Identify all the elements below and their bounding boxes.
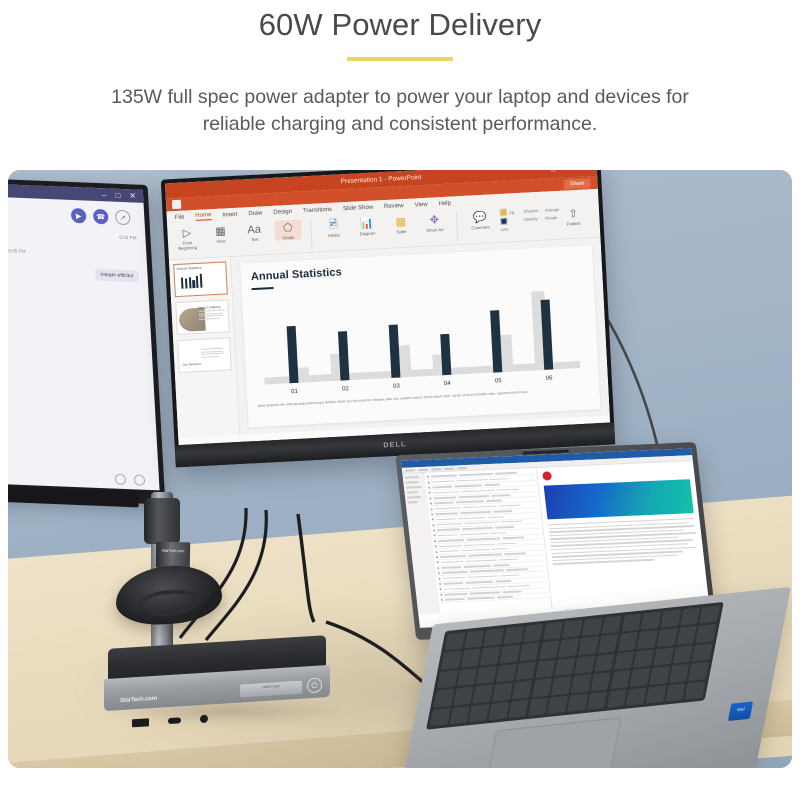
trackpad[interactable] bbox=[484, 717, 621, 768]
unread-dot bbox=[437, 567, 439, 569]
keyboard-key[interactable] bbox=[582, 618, 603, 637]
keyboard-key[interactable] bbox=[665, 683, 686, 702]
keyboard-key[interactable] bbox=[680, 607, 701, 626]
keyboard-key[interactable] bbox=[649, 666, 670, 685]
mail-text-line bbox=[493, 510, 512, 512]
mail-text-line bbox=[443, 582, 463, 584]
mail-text-line bbox=[484, 484, 500, 486]
keyboard-key[interactable] bbox=[457, 668, 478, 687]
keyboard-key[interactable] bbox=[453, 687, 474, 706]
keyboard-key[interactable] bbox=[469, 704, 490, 723]
mail-text-line bbox=[436, 518, 456, 520]
keyboard-key[interactable] bbox=[464, 630, 485, 649]
power-button[interactable]: ⏻ bbox=[307, 677, 322, 693]
unread-dot bbox=[427, 481, 429, 483]
unread-dot bbox=[429, 497, 431, 499]
mail-text-line bbox=[440, 555, 466, 558]
unread-dot bbox=[433, 529, 435, 531]
keyboard-key[interactable] bbox=[688, 662, 709, 681]
unread-dot bbox=[434, 540, 436, 542]
keyboard-key[interactable] bbox=[598, 635, 619, 654]
mail-text-line bbox=[432, 486, 452, 488]
mail-text-line bbox=[504, 553, 526, 555]
mail-text-line bbox=[463, 565, 491, 568]
mail-text-line bbox=[433, 491, 459, 494]
intel-badge: intel bbox=[728, 701, 753, 721]
display-cable bbox=[180, 508, 246, 638]
keyboard-key[interactable] bbox=[492, 683, 513, 702]
mail-text-line bbox=[439, 550, 459, 552]
title-divider bbox=[0, 57, 800, 61]
keyboard-key[interactable] bbox=[523, 624, 544, 643]
keyboard-key[interactable] bbox=[571, 674, 592, 693]
keyboard-key[interactable] bbox=[512, 681, 533, 700]
mail-text-line bbox=[444, 593, 467, 595]
keyboard-key[interactable] bbox=[637, 630, 658, 649]
unread-dot bbox=[440, 594, 442, 596]
mail-text-line bbox=[465, 581, 493, 584]
mail-text-line bbox=[466, 559, 497, 562]
mail-text-line bbox=[469, 591, 500, 594]
mail-text-line bbox=[467, 575, 498, 578]
mail-text-line bbox=[468, 554, 502, 557]
mail-text-line bbox=[470, 570, 504, 573]
keyboard-key[interactable] bbox=[441, 651, 462, 670]
keyboard-key[interactable] bbox=[614, 651, 635, 670]
keyboard-key[interactable] bbox=[460, 649, 481, 668]
keyboard-key[interactable] bbox=[676, 626, 697, 645]
mail-text-line bbox=[495, 580, 511, 582]
mail-text-line bbox=[459, 473, 493, 476]
unread-dot bbox=[435, 551, 437, 553]
mail-text-line bbox=[454, 485, 482, 488]
mail-text-line bbox=[461, 549, 489, 552]
keyboard-key[interactable] bbox=[606, 689, 627, 708]
keyboard-key[interactable] bbox=[641, 611, 662, 630]
unread-dot bbox=[434, 535, 436, 537]
mail-text-line bbox=[501, 574, 520, 576]
unread-dot bbox=[427, 476, 429, 478]
display-cable bbox=[206, 510, 266, 640]
keyboard-key[interactable] bbox=[516, 662, 537, 681]
unread-dot bbox=[436, 556, 438, 558]
product-photo: – □ ✕ ▶ ☎ ↗ 6:03 PM Donec ac dui magna p… bbox=[8, 170, 792, 768]
keyboard-key[interactable] bbox=[528, 698, 549, 717]
mail-text-line bbox=[456, 479, 487, 482]
keyboard-key[interactable] bbox=[476, 666, 497, 685]
mail-text-line bbox=[464, 521, 498, 524]
keyboard-key[interactable] bbox=[653, 647, 674, 666]
mail-text-line bbox=[456, 501, 484, 504]
unread-dot bbox=[429, 492, 431, 494]
unread-dot bbox=[437, 562, 439, 564]
keyboard-key[interactable] bbox=[508, 700, 529, 719]
email-body-text bbox=[548, 518, 699, 565]
mail-text-line bbox=[490, 532, 506, 534]
mail-text-line bbox=[436, 523, 462, 526]
mail-text-line bbox=[434, 502, 454, 504]
mail-text-line bbox=[500, 520, 522, 522]
mail-text-line bbox=[508, 585, 530, 587]
keyboard-key[interactable] bbox=[699, 605, 720, 624]
keyboard-key[interactable] bbox=[617, 632, 638, 651]
keyboard-key[interactable] bbox=[594, 653, 615, 672]
keyboard-key[interactable] bbox=[610, 670, 631, 689]
keyboard-key[interactable] bbox=[503, 626, 524, 645]
mail-text-line bbox=[472, 586, 506, 589]
mail-text-line bbox=[438, 539, 464, 542]
keyboard-key[interactable] bbox=[590, 672, 611, 691]
mail-text-line bbox=[445, 598, 465, 600]
keyboard-key[interactable] bbox=[444, 632, 465, 651]
unread-dot bbox=[431, 513, 433, 515]
keyboard-key[interactable] bbox=[669, 664, 690, 683]
mail-text-line bbox=[441, 561, 464, 563]
keyboard-key[interactable] bbox=[542, 622, 563, 641]
mail-text-line bbox=[464, 543, 495, 546]
keyboard-key[interactable] bbox=[696, 624, 717, 643]
mail-text-line bbox=[495, 472, 517, 474]
keyboard-key[interactable] bbox=[562, 620, 583, 639]
keyboard-key[interactable] bbox=[621, 614, 642, 633]
keyboard-key[interactable] bbox=[551, 677, 572, 696]
unread-dot bbox=[439, 583, 441, 585]
unread-dot bbox=[432, 524, 434, 526]
mail-text-line bbox=[491, 494, 510, 496]
dock-brand: StarTech.com bbox=[120, 696, 157, 704]
keyboard-key[interactable] bbox=[484, 628, 505, 647]
dell-logo: DELL bbox=[563, 607, 579, 615]
keyboard-key[interactable] bbox=[558, 639, 579, 658]
keyboard-key[interactable] bbox=[587, 691, 608, 710]
keyboard-key[interactable] bbox=[555, 658, 576, 677]
mail-text-line bbox=[497, 596, 513, 598]
mail-text-line bbox=[461, 489, 495, 492]
mail-text-line bbox=[467, 597, 495, 600]
keyboard-key[interactable] bbox=[657, 628, 678, 647]
mail-text-line bbox=[463, 505, 497, 508]
mail-text-line bbox=[502, 590, 521, 592]
sender-avatar bbox=[542, 471, 552, 480]
mail-text-line bbox=[458, 517, 486, 520]
mail-text-line bbox=[506, 569, 528, 571]
unread-dot bbox=[435, 545, 437, 547]
keyboard-key[interactable] bbox=[578, 637, 599, 656]
mail-text-line bbox=[441, 566, 461, 568]
mail-text-line bbox=[495, 526, 514, 528]
keyboard-key[interactable] bbox=[626, 687, 647, 706]
mail-text-line bbox=[460, 533, 488, 536]
page-subtitle: 135W full spec power adapter to power yo… bbox=[0, 84, 800, 138]
mail-text-line bbox=[499, 504, 521, 506]
unread-dot bbox=[438, 572, 440, 574]
keyboard-key[interactable] bbox=[547, 695, 568, 714]
mail-text-line bbox=[486, 500, 502, 502]
unread-dot bbox=[432, 519, 434, 521]
mail-text-line bbox=[493, 564, 509, 566]
mail-text-line bbox=[442, 577, 465, 579]
email-banner-image bbox=[544, 479, 694, 519]
page-title: 60W Power Delivery bbox=[0, 6, 800, 45]
mail-text-line bbox=[499, 558, 518, 560]
mail-text-line bbox=[491, 548, 507, 550]
mail-text-line bbox=[460, 511, 491, 514]
keyboard-key[interactable] bbox=[574, 656, 595, 675]
keyboard-key[interactable] bbox=[672, 645, 693, 664]
unread-dot bbox=[438, 578, 440, 580]
keyboard-key[interactable] bbox=[633, 649, 654, 668]
unread-dot bbox=[428, 487, 430, 489]
mail-body bbox=[402, 461, 708, 614]
mail-text-line bbox=[462, 527, 493, 530]
mail-reading-pane bbox=[537, 461, 709, 608]
mail-text-line bbox=[466, 538, 500, 541]
keyboard-key[interactable] bbox=[535, 660, 556, 679]
keyboard-key[interactable] bbox=[660, 609, 681, 628]
unread-dot bbox=[440, 588, 442, 590]
mail-text-line bbox=[458, 495, 489, 498]
mail-text-line bbox=[497, 488, 519, 490]
mail-text-line bbox=[437, 529, 460, 531]
keyboard-key[interactable] bbox=[531, 679, 552, 698]
unread-dot bbox=[430, 508, 432, 510]
dock-label-plate: USB-C Dock bbox=[240, 681, 302, 698]
keyboard-key[interactable] bbox=[685, 681, 706, 700]
mail-text-line bbox=[435, 512, 458, 514]
mail-text-line bbox=[488, 516, 504, 518]
keyboard-key[interactable] bbox=[437, 670, 458, 689]
unread-dot bbox=[441, 599, 443, 601]
keyboard[interactable] bbox=[426, 602, 724, 730]
keyboard-key[interactable] bbox=[430, 708, 451, 727]
keyboard-key[interactable] bbox=[473, 685, 494, 704]
keyboard-key[interactable] bbox=[539, 641, 560, 660]
unread-dot bbox=[430, 503, 432, 505]
keyboard-key[interactable] bbox=[567, 693, 588, 712]
keyboard-key[interactable] bbox=[601, 616, 622, 635]
keyboard-key[interactable] bbox=[433, 689, 454, 708]
keyboard-key[interactable] bbox=[692, 643, 713, 662]
usb-a-port[interactable] bbox=[132, 718, 149, 727]
mail-text-line bbox=[438, 534, 458, 536]
keyboard-key[interactable] bbox=[489, 702, 510, 721]
keyboard-key[interactable] bbox=[496, 664, 517, 683]
keyboard-key[interactable] bbox=[519, 643, 540, 662]
page-header: 60W Power Delivery 135W full spec power … bbox=[0, 0, 800, 138]
mail-text-line bbox=[433, 496, 456, 498]
mail-text-line bbox=[434, 507, 460, 510]
keyboard-key[interactable] bbox=[630, 668, 651, 687]
mail-text-line bbox=[502, 537, 524, 539]
mail-message-list[interactable] bbox=[424, 468, 552, 613]
laptop: DELL intel bbox=[406, 448, 792, 768]
mail-text-line bbox=[442, 571, 468, 574]
mail-text-line bbox=[431, 480, 454, 482]
keyboard-key[interactable] bbox=[449, 706, 470, 725]
keyboard-key[interactable] bbox=[480, 647, 501, 666]
mail-text-line bbox=[431, 475, 457, 478]
mail-text-line bbox=[490, 478, 509, 480]
keyboard-key[interactable] bbox=[500, 645, 521, 664]
mail-text-line bbox=[497, 542, 516, 544]
mail-text-line bbox=[444, 587, 470, 590]
mail-text-line bbox=[439, 545, 462, 547]
usb-c-port[interactable] bbox=[168, 717, 181, 724]
keyboard-key[interactable] bbox=[646, 685, 667, 704]
power-cable bbox=[298, 514, 314, 622]
